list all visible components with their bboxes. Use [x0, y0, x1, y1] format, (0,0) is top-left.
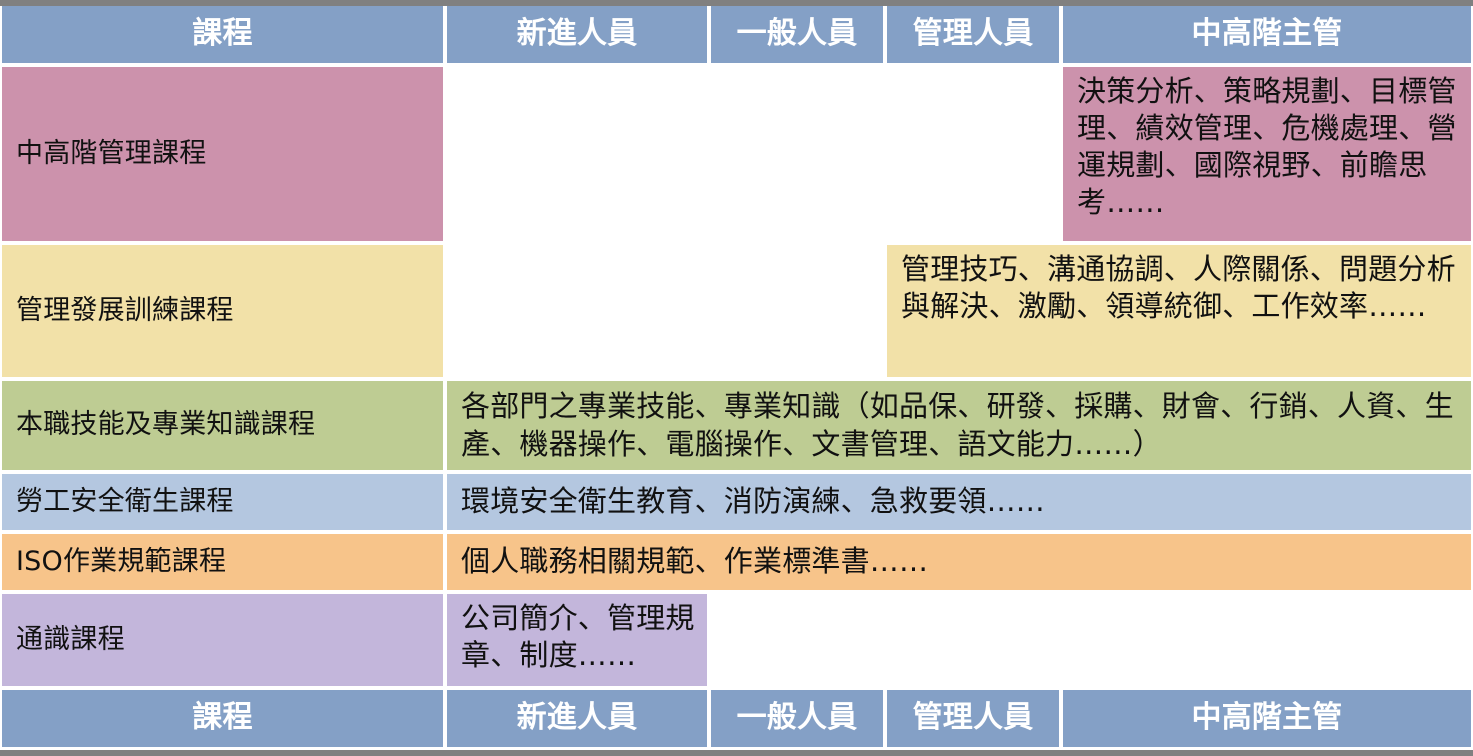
header-cell-manager: 管理人員: [887, 6, 1059, 63]
header-label-executive: 中高階主管: [1063, 15, 1471, 53]
training-course-matrix-table: 課程 新進人員 一般人員 管理人員 中高階主管 中高階管理課程 決策分析、策略規…: [0, 6, 1473, 750]
row-content-text: 管理技巧、溝通協調、人際關係、問題分析與解決、激勵、領導統御、工作效率……: [887, 245, 1471, 325]
row-content-cell-newcomer: 公司簡介、管理規章、制度……: [447, 594, 707, 686]
row-label-text: ISO作業規範課程: [2, 545, 443, 580]
table-header-row: 課程 新進人員 一般人員 管理人員 中高階主管: [0, 6, 1473, 63]
footer-cell-course: 課程: [2, 690, 443, 747]
header-label-manager: 管理人員: [887, 15, 1059, 53]
footer-label-executive: 中高階主管: [1063, 699, 1471, 737]
row-empty-cell-general: [711, 245, 883, 377]
header-label-newcomer: 新進人員: [447, 15, 707, 53]
footer-label-course: 課程: [2, 699, 443, 737]
row-empty-cell-newcomer: [447, 67, 707, 241]
row-content-text: 決策分析、策略規劃、目標管理、績效管理、危機處理、營運規劃、國際視野、前瞻思考……: [1063, 67, 1471, 221]
row-label-cell: 通識課程: [2, 594, 443, 686]
header-cell-general: 一般人員: [711, 6, 883, 63]
table-row: 勞工安全衛生課程 環境安全衛生教育、消防演練、急救要領……: [0, 474, 1473, 530]
row-content-text: 環境安全衛生教育、消防演練、急救要領……: [447, 483, 1471, 520]
row-content-cell-all: 環境安全衛生教育、消防演練、急救要領……: [447, 474, 1471, 530]
row-label-text: 管理發展訓練課程: [2, 294, 443, 329]
row-content-text: 個人職務相關規範、作業標準書……: [447, 543, 1471, 580]
table-row: 中高階管理課程 決策分析、策略規劃、目標管理、績效管理、危機處理、營運規劃、國際…: [0, 67, 1473, 241]
row-label-cell: 中高階管理課程: [2, 67, 443, 241]
row-content-cell-manager-executive: 管理技巧、溝通協調、人際關係、問題分析與解決、激勵、領導統御、工作效率……: [887, 245, 1471, 377]
footer-cell-newcomer: 新進人員: [447, 690, 707, 747]
row-label-cell: 勞工安全衛生課程: [2, 474, 443, 530]
header-cell-newcomer: 新進人員: [447, 6, 707, 63]
row-empty-cell-executive: [1063, 594, 1471, 686]
row-label-text: 中高階管理課程: [2, 137, 443, 172]
row-label-text: 勞工安全衛生課程: [2, 485, 443, 520]
header-cell-executive: 中高階主管: [1063, 6, 1471, 63]
footer-cell-manager: 管理人員: [887, 690, 1059, 747]
header-cell-course: 課程: [2, 6, 443, 63]
header-label-general: 一般人員: [711, 15, 883, 53]
footer-label-manager: 管理人員: [887, 699, 1059, 737]
row-label-text: 本職技能及專業知識課程: [2, 408, 443, 443]
footer-label-newcomer: 新進人員: [447, 699, 707, 737]
table-row: 本職技能及專業知識課程 各部門之專業技能、專業知識（如品保、研發、採購、財會、行…: [0, 381, 1473, 470]
table-row: 通識課程 公司簡介、管理規章、制度……: [0, 594, 1473, 686]
footer-label-general: 一般人員: [711, 699, 883, 737]
table-footer-row: 課程 新進人員 一般人員 管理人員 中高階主管: [0, 690, 1473, 747]
table-row: 管理發展訓練課程 管理技巧、溝通協調、人際關係、問題分析與解決、激勵、領導統御、…: [0, 245, 1473, 377]
header-label-course: 課程: [2, 15, 443, 53]
row-label-cell: ISO作業規範課程: [2, 534, 443, 590]
row-empty-cell-general: [711, 594, 883, 686]
row-empty-cell-general: [711, 67, 883, 241]
row-content-cell-all: 個人職務相關規範、作業標準書……: [447, 534, 1471, 590]
row-label-text: 通識課程: [2, 623, 443, 658]
row-content-cell-executive: 決策分析、策略規劃、目標管理、績效管理、危機處理、營運規劃、國際視野、前瞻思考……: [1063, 67, 1471, 241]
row-label-cell: 管理發展訓練課程: [2, 245, 443, 377]
row-content-text: 公司簡介、管理規章、制度……: [447, 594, 707, 674]
row-empty-cell-newcomer: [447, 245, 707, 377]
table-row: ISO作業規範課程 個人職務相關規範、作業標準書……: [0, 534, 1473, 590]
row-label-cell: 本職技能及專業知識課程: [2, 381, 443, 470]
row-empty-cell-manager: [887, 67, 1059, 241]
footer-cell-executive: 中高階主管: [1063, 690, 1471, 747]
row-empty-cell-manager: [887, 594, 1059, 686]
row-content-text: 各部門之專業技能、專業知識（如品保、研發、採購、財會、行銷、人資、生產、機器操作…: [447, 388, 1471, 462]
row-content-cell-all: 各部門之專業技能、專業知識（如品保、研發、採購、財會、行銷、人資、生產、機器操作…: [447, 381, 1471, 470]
footer-cell-general: 一般人員: [711, 690, 883, 747]
